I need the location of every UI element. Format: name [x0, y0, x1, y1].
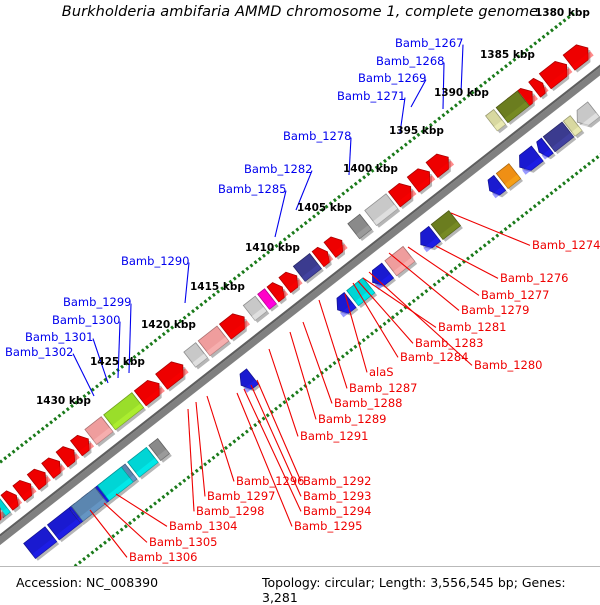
gene-label-bamb_1306[interactable]: Bamb_1306 — [129, 552, 197, 564]
ruler-tick-1: 1385 kbp — [480, 50, 535, 61]
gene-label-bamb_1289[interactable]: Bamb_1289 — [318, 414, 386, 426]
accession-text: Accession: NC_008390 — [16, 575, 158, 590]
gene-label-bamb_1295[interactable]: Bamb_1295 — [294, 521, 362, 533]
genome-map-viewer: Burkholderia ambifaria AMMD chromosome 1… — [0, 0, 600, 600]
ruler-tick-9: 1425 kbp — [90, 357, 145, 368]
ruler-tick-0: 1380 kbp — [535, 8, 590, 19]
gene-label-bamb_1291[interactable]: Bamb_1291 — [300, 431, 368, 443]
gene-label-bamb_1287[interactable]: Bamb_1287 — [349, 383, 417, 395]
gene-label-bamb_1294[interactable]: Bamb_1294 — [303, 506, 371, 518]
gene-label-bamb_1276[interactable]: Bamb_1276 — [500, 273, 568, 285]
gene-label-bamb_1293[interactable]: Bamb_1293 — [303, 491, 371, 503]
ruler-tick-10: 1430 kbp — [36, 396, 91, 407]
gene-label-bamb_1269[interactable]: Bamb_1269 — [358, 73, 426, 85]
gene-label-bamb_1267[interactable]: Bamb_1267 — [395, 38, 463, 50]
gene-label-bamb_1300[interactable]: Bamb_1300 — [52, 315, 120, 327]
gene-label-bamb_1280[interactable]: Bamb_1280 — [474, 360, 542, 372]
gene-label-bamb_1298[interactable]: Bamb_1298 — [196, 506, 264, 518]
gene-label-bamb_1271[interactable]: Bamb_1271 — [337, 91, 405, 103]
gene-label-bamb_1288[interactable]: Bamb_1288 — [334, 398, 402, 410]
gene-label-alas[interactable]: alaS — [369, 367, 394, 379]
ruler-tick-6: 1410 kbp — [245, 243, 300, 254]
gene-label-bamb_1283[interactable]: Bamb_1283 — [415, 338, 483, 350]
gene-label-bamb_1279[interactable]: Bamb_1279 — [461, 305, 529, 317]
ruler-tick-2: 1390 kbp — [434, 88, 489, 99]
gene-label-bamb_1297[interactable]: Bamb_1297 — [207, 491, 275, 503]
gene-label-bamb_1281[interactable]: Bamb_1281 — [438, 322, 506, 334]
ruler-tick-4: 1400 kbp — [343, 164, 398, 175]
gene-label-bamb_1301[interactable]: Bamb_1301 — [25, 332, 93, 344]
gene-label-bamb_1278[interactable]: Bamb_1278 — [283, 131, 351, 143]
ruler-tick-3: 1395 kbp — [389, 126, 444, 137]
gene-label-bamb_1268[interactable]: Bamb_1268 — [376, 56, 444, 68]
ruler-tick-5: 1405 kbp — [297, 203, 352, 214]
gene-label-bamb_1304[interactable]: Bamb_1304 — [169, 521, 237, 533]
gene-label-bamb_1277[interactable]: Bamb_1277 — [481, 290, 549, 302]
gene-label-bamb_1282[interactable]: Bamb_1282 — [244, 164, 312, 176]
gene-label-bamb_1284[interactable]: Bamb_1284 — [400, 352, 468, 364]
ruler-tick-8: 1420 kbp — [141, 320, 196, 331]
gene-label-bamb_1302[interactable]: Bamb_1302 — [5, 347, 73, 359]
gene-label-bamb_1290[interactable]: Bamb_1290 — [121, 256, 189, 268]
gene-label-bamb_1274[interactable]: Bamb_1274 — [532, 240, 600, 252]
gene-label-bamb_1296[interactable]: Bamb_1296 — [236, 476, 304, 488]
topology-text: Topology: circular; Length: 3,556,545 bp… — [262, 575, 600, 605]
gene-label-bamb_1299[interactable]: Bamb_1299 — [63, 297, 131, 309]
gene-label-bamb_1305[interactable]: Bamb_1305 — [149, 537, 217, 549]
gene-label-bamb_1285[interactable]: Bamb_1285 — [218, 184, 286, 196]
gene-label-bamb_1292[interactable]: Bamb_1292 — [303, 476, 371, 488]
ruler-tick-7: 1415 kbp — [190, 282, 245, 293]
